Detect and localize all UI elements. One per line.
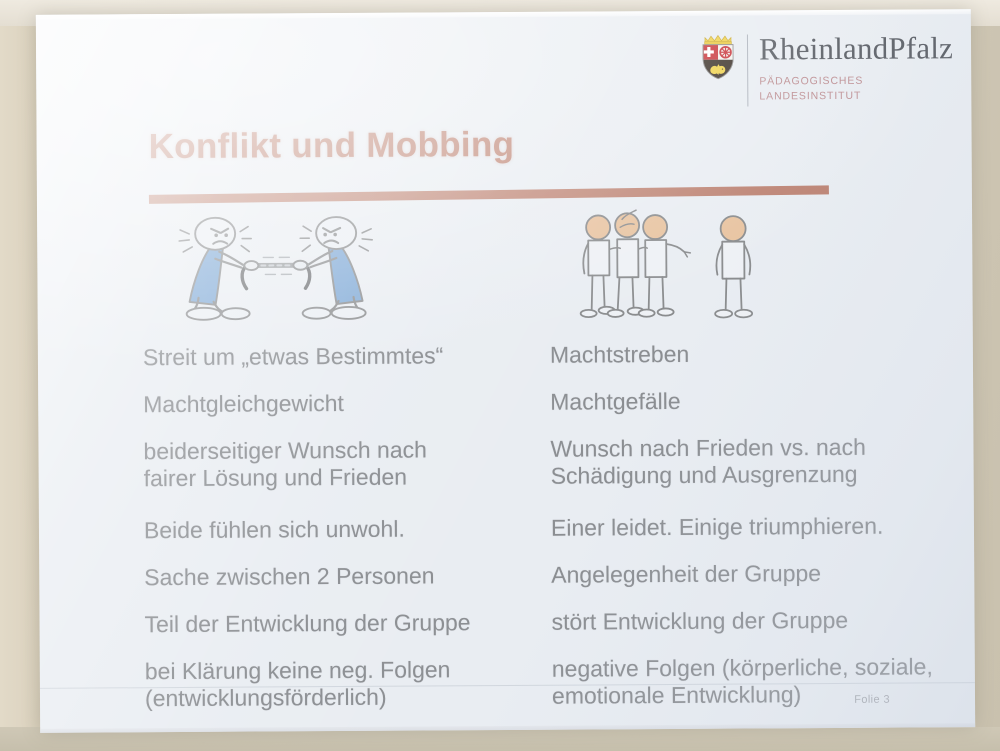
presentation-slide: RheinlandPfalz PÄDAGOGISCHES LANDESINSTI… bbox=[36, 9, 975, 733]
projection-screen: RheinlandPfalz PÄDAGOGISCHES LANDESINSTI… bbox=[36, 9, 975, 733]
room-wall-left bbox=[0, 0, 40, 751]
list-item: Machtstreben bbox=[550, 339, 965, 369]
list-item: Sache zwischen 2 Personen bbox=[144, 561, 544, 591]
list-item: Angelegenheit der Gruppe bbox=[551, 559, 966, 589]
rheinland-pfalz-logo: RheinlandPfalz PÄDAGOGISCHES LANDESINSTI… bbox=[698, 31, 953, 107]
logo-subtitle: PÄDAGOGISCHES LANDESINSTITUT bbox=[759, 73, 953, 105]
list-item: bei Klärung keine neg. Folgen (entwicklu… bbox=[145, 656, 545, 713]
list-item: Machtgefälle bbox=[550, 386, 965, 416]
list-item: stört Entwicklung der Gruppe bbox=[551, 606, 966, 636]
list-item: Wunsch nach Frieden vs. nach Schädigung … bbox=[550, 433, 965, 490]
list-item: Einer leidet. Einige triumphieren. bbox=[551, 512, 966, 542]
list-item: Machtgleichgewicht bbox=[143, 389, 543, 419]
slide-title: Konflikt und Mobbing bbox=[149, 125, 515, 167]
list-item: Beide fühlen sich unwohl. bbox=[144, 514, 544, 544]
title-underline-rule bbox=[149, 185, 829, 203]
tug-of-war-illustration bbox=[153, 209, 399, 325]
group-exclusion-illustration bbox=[570, 206, 776, 322]
logo-divider bbox=[747, 35, 748, 107]
coat-of-arms-icon bbox=[698, 33, 738, 81]
logo-wordmark: RheinlandPfalz bbox=[759, 32, 953, 64]
list-item: beiderseitiger Wunsch nach fairer Lösung… bbox=[143, 436, 543, 493]
column-konflikt: Streit um „etwas Bestimmtes“ Machtgleich… bbox=[143, 342, 545, 733]
list-item: Streit um „etwas Bestimmtes“ bbox=[143, 342, 543, 372]
slide-number: Folie 3 bbox=[854, 694, 890, 706]
list-item: Teil der Entwicklung der Gruppe bbox=[144, 609, 544, 639]
list-item: negative Folgen (körperliche, soziale, e… bbox=[552, 653, 967, 710]
logo-text-block: RheinlandPfalz PÄDAGOGISCHES LANDESINSTI… bbox=[759, 31, 953, 105]
column-mobbing: Machtstreben Machtgefälle Wunsch nach Fr… bbox=[550, 339, 967, 733]
